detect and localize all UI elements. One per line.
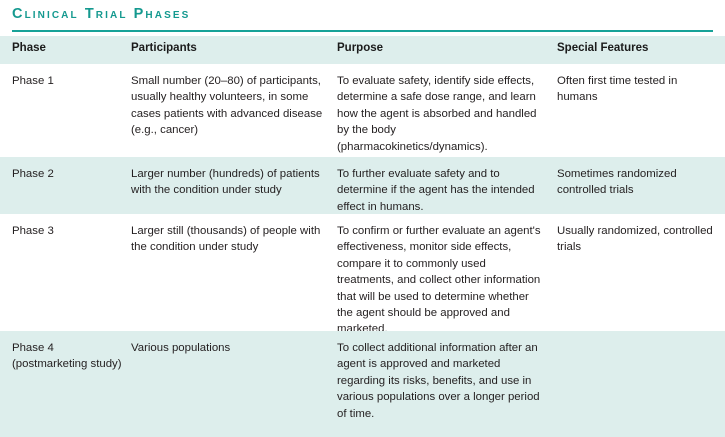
column-header-purpose: Purpose: [337, 42, 545, 54]
cell-participants: Small number (20–80) of participants, us…: [131, 73, 329, 139]
table-row: Phase 4 (postmarketing study) Various po…: [0, 331, 725, 437]
cell-purpose: To confirm or further evaluate an agent'…: [337, 223, 545, 338]
table-row: Phase 1 Small number (20–80) of particip…: [0, 64, 725, 157]
table-row: Phase 3 Larger still (thousands) of peop…: [0, 214, 725, 331]
clinical-trial-phases-figure: Clinical Trial Phases Phase Participants…: [0, 0, 725, 437]
cell-participants: Larger still (thousands) of people with …: [131, 223, 329, 256]
cell-purpose: To collect additional information after …: [337, 340, 545, 422]
cell-special-features: Often first time tested in humans: [557, 73, 715, 106]
cell-purpose: To further evaluate safety and to determ…: [337, 166, 545, 215]
cell-phase: Phase 1: [12, 73, 124, 89]
cell-phase: Phase 2: [12, 166, 124, 182]
table-header-row: Phase Participants Purpose Special Featu…: [0, 36, 725, 64]
cell-special-features: Usually randomized, controlled trials: [557, 223, 715, 256]
cell-special-features: Sometimes randomized controlled trials: [557, 166, 715, 199]
column-header-phase: Phase: [12, 42, 124, 54]
cell-purpose: To evaluate safety, identify side effect…: [337, 73, 545, 155]
cell-participants: Larger number (hundreds) of patients wit…: [131, 166, 329, 199]
column-header-special-features: Special Features: [557, 42, 715, 54]
cell-phase: Phase 4 (postmarketing study): [12, 340, 124, 373]
figure-title-band: Clinical Trial Phases: [0, 0, 725, 33]
title-underline-rule: [12, 30, 713, 32]
column-header-participants: Participants: [131, 42, 329, 54]
cell-phase: Phase 3: [12, 223, 124, 239]
table-row: Phase 2 Larger number (hundreds) of pati…: [0, 157, 725, 214]
page-title: Clinical Trial Phases: [12, 6, 190, 22]
cell-participants: Various populations: [131, 340, 329, 356]
